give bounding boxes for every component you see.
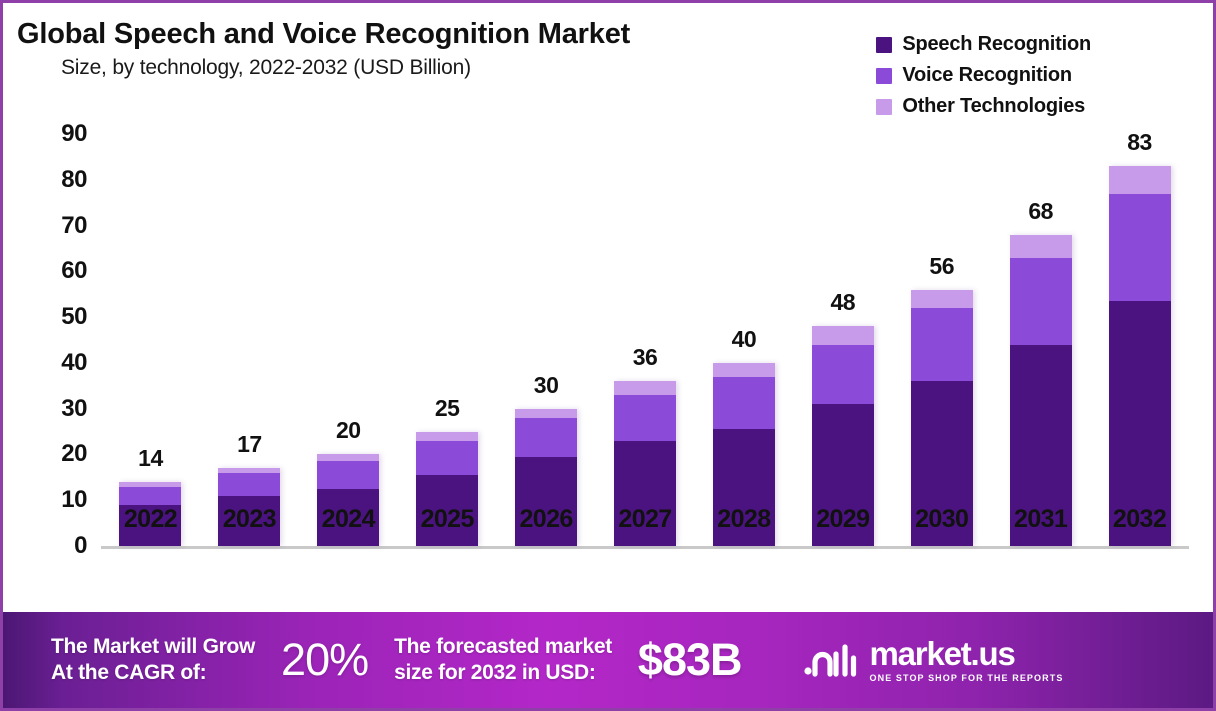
- bar-value-label: 14: [101, 445, 199, 472]
- bar-segment[interactable]: [317, 461, 379, 488]
- y-axis-tick-label: 20: [61, 440, 87, 468]
- legend-item[interactable]: Voice Recognition: [876, 64, 1091, 87]
- x-axis-tick-label: 2024: [299, 505, 397, 534]
- forecast-caption-line2: size for 2032 in USD:: [394, 660, 612, 686]
- legend-item[interactable]: Other Technologies: [876, 95, 1091, 118]
- y-axis-tick-label: 10: [61, 486, 87, 514]
- y-axis-tick-label: 30: [61, 395, 87, 423]
- cagr-caption-line1: The Market will Grow: [51, 634, 255, 660]
- legend-item-label: Other Technologies: [902, 95, 1085, 118]
- infographic-root: Global Speech and Voice Recognition Mark…: [0, 0, 1216, 711]
- chart-legend: Speech RecognitionVoice RecognitionOther…: [876, 33, 1091, 126]
- bar-segment[interactable]: [1109, 166, 1171, 193]
- cagr-caption: The Market will Grow At the CAGR of:: [51, 634, 255, 685]
- chart-card: Global Speech and Voice Recognition Mark…: [3, 3, 1213, 608]
- bar-segment[interactable]: [1010, 235, 1072, 258]
- y-axis-tick-label: 60: [61, 257, 87, 285]
- y-axis-tick-label: 90: [61, 120, 87, 148]
- bar-stack[interactable]: [1010, 235, 1072, 546]
- summary-banner: The Market will Grow At the CAGR of: 20%…: [3, 612, 1213, 708]
- x-axis-tick-label: 2032: [1091, 505, 1189, 534]
- bar-value-label: 30: [497, 372, 595, 399]
- x-axis-tick-label: 2031: [992, 505, 1090, 534]
- bar-segment[interactable]: [614, 381, 676, 395]
- bar-group[interactable]: 252025: [398, 0, 496, 546]
- y-axis-tick-label: 0: [74, 532, 87, 560]
- legend-item[interactable]: Speech Recognition: [876, 33, 1091, 56]
- bar-group[interactable]: 832032: [1091, 0, 1189, 546]
- brand-logo: market.us ONE STOP SHOP FOR THE REPORTS: [804, 637, 1064, 683]
- bar-value-label: 48: [794, 289, 892, 316]
- bar-segment[interactable]: [1010, 258, 1072, 345]
- legend-swatch-icon: [876, 68, 892, 84]
- bar-segment[interactable]: [911, 290, 973, 308]
- x-axis-tick-label: 2029: [794, 505, 892, 534]
- y-axis-tick-label: 80: [61, 166, 87, 194]
- bar-segment[interactable]: [713, 377, 775, 430]
- bar-segment[interactable]: [812, 326, 874, 344]
- x-axis-tick-label: 2028: [695, 505, 793, 534]
- cagr-caption-line2: At the CAGR of:: [51, 660, 255, 686]
- forecast-caption: The forecasted market size for 2032 in U…: [394, 634, 612, 685]
- bar-value-label: 17: [200, 431, 298, 458]
- bar-group[interactable]: 302026: [497, 0, 595, 546]
- bar-value-label: 68: [992, 198, 1090, 225]
- bar-segment[interactable]: [1109, 194, 1171, 302]
- legend-item-label: Voice Recognition: [902, 64, 1072, 87]
- y-axis-tick-label: 50: [61, 303, 87, 331]
- bar-stack[interactable]: [1109, 166, 1171, 546]
- bar-group[interactable]: 402028: [695, 0, 793, 546]
- bar-value-label: 83: [1091, 129, 1189, 156]
- bar-segment[interactable]: [713, 363, 775, 377]
- legend-swatch-icon: [876, 99, 892, 115]
- bar-group[interactable]: 202024: [299, 0, 397, 546]
- bar-segment[interactable]: [416, 432, 478, 441]
- x-axis-tick-label: 2030: [893, 505, 991, 534]
- market-us-logo-icon: [804, 641, 858, 679]
- y-axis: 0102030405060708090: [31, 3, 87, 608]
- bar-segment[interactable]: [812, 345, 874, 405]
- legend-item-label: Speech Recognition: [902, 33, 1091, 56]
- bar-value-label: 25: [398, 395, 496, 422]
- y-axis-tick-label: 70: [61, 212, 87, 240]
- bar-segment[interactable]: [515, 418, 577, 457]
- bar-value-label: 36: [596, 344, 694, 371]
- bar-value-label: 56: [893, 253, 991, 280]
- bar-segment[interactable]: [317, 454, 379, 461]
- forecast-value: $83B: [638, 634, 742, 686]
- bar-value-label: 20: [299, 417, 397, 444]
- bar-value-label: 40: [695, 326, 793, 353]
- x-axis-tick-label: 2022: [101, 505, 199, 534]
- bar-group[interactable]: 142022: [101, 0, 199, 546]
- cagr-value: 20%: [281, 634, 368, 686]
- bar-segment[interactable]: [614, 395, 676, 441]
- brand-wordmark: market.us: [870, 637, 1064, 670]
- y-axis-tick-label: 40: [61, 349, 87, 377]
- brand-text-block: market.us ONE STOP SHOP FOR THE REPORTS: [870, 637, 1064, 683]
- x-axis-tick-label: 2025: [398, 505, 496, 534]
- bar-segment[interactable]: [416, 441, 478, 475]
- bar-segment[interactable]: [218, 473, 280, 496]
- brand-tagline: ONE STOP SHOP FOR THE REPORTS: [870, 673, 1064, 683]
- bar-group[interactable]: 362027: [596, 0, 694, 546]
- bar-segment[interactable]: [911, 308, 973, 381]
- x-axis-tick-label: 2023: [200, 505, 298, 534]
- x-axis-tick-label: 2027: [596, 505, 694, 534]
- bar-segment[interactable]: [515, 409, 577, 418]
- bar-segment[interactable]: [119, 487, 181, 505]
- x-axis-tick-label: 2026: [497, 505, 595, 534]
- forecast-caption-line1: The forecasted market: [394, 634, 612, 660]
- legend-swatch-icon: [876, 37, 892, 53]
- bar-group[interactable]: 172023: [200, 0, 298, 546]
